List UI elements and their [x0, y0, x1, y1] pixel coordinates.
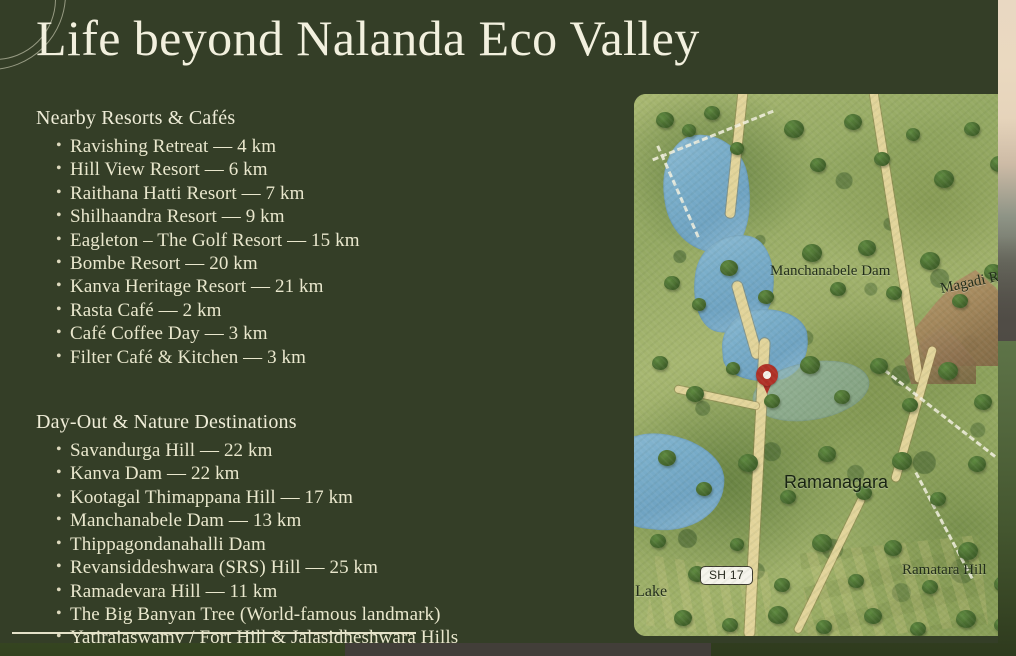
list-item: Revansiddeshwara (SRS) Hill — 25 km	[36, 556, 616, 579]
map-paper-grain	[634, 94, 998, 636]
list-item: Ravishing Retreat — 4 km	[36, 135, 616, 158]
list-item: The Big Banyan Tree (World-famous landma…	[36, 603, 616, 626]
page-title: Life beyond Nalanda Eco Valley	[36, 4, 700, 72]
list-item: Eagleton – The Golf Resort — 15 km	[36, 229, 616, 252]
list-day-out: Savandurga Hill — 22 km Kanva Dam — 22 k…	[36, 439, 616, 643]
list-item: Kanva Heritage Resort — 21 km	[36, 275, 616, 298]
list-item: Yatirajaswamy / Fort Hill & Jalasidheshw…	[36, 626, 616, 643]
list-nearby-resorts: Ravishing Retreat — 4 km Hill View Resor…	[36, 135, 616, 369]
list-item: Manchanabele Dam — 13 km	[36, 509, 616, 532]
list-item: Rasta Café — 2 km	[36, 299, 616, 322]
list-item: Filter Café & Kitchen — 3 km	[36, 346, 616, 369]
list-item: Kootagal Thimappana Hill — 17 km	[36, 486, 616, 509]
list-item: Kanva Dam — 22 km	[36, 462, 616, 485]
list-item: Savandurga Hill — 22 km	[36, 439, 616, 462]
section-spacer	[36, 385, 616, 409]
list-item: Raithana Hatti Resort — 7 km	[36, 182, 616, 205]
list-item: Bombe Resort — 20 km	[36, 252, 616, 275]
list-item: Thippagondanahalli Dam	[36, 533, 616, 556]
section-heading-resorts: Nearby Resorts & Cafés	[36, 105, 616, 131]
section-day-out: Day-Out & Nature Destinations Savandurga…	[36, 409, 616, 643]
list-item: Hill View Resort — 6 km	[36, 158, 616, 181]
list-item: Shilhaandra Resort — 9 km	[36, 205, 616, 228]
section-nearby-resorts: Nearby Resorts & Cafés Ravishing Retreat…	[36, 105, 616, 369]
bottom-divider	[12, 632, 416, 634]
list-item: Ramadevara Hill — 11 km	[36, 580, 616, 603]
section-heading-day-out: Day-Out & Nature Destinations	[36, 409, 616, 435]
illustrated-map[interactable]: Manchanabele Dam Magadi R Ramanagara Ram…	[634, 94, 998, 636]
slide-panel: Life beyond Nalanda Eco Valley Nearby Re…	[0, 0, 998, 643]
list-item: Café Coffee Day — 3 km	[36, 322, 616, 345]
content-column: Nearby Resorts & Cafés Ravishing Retreat…	[36, 105, 616, 643]
